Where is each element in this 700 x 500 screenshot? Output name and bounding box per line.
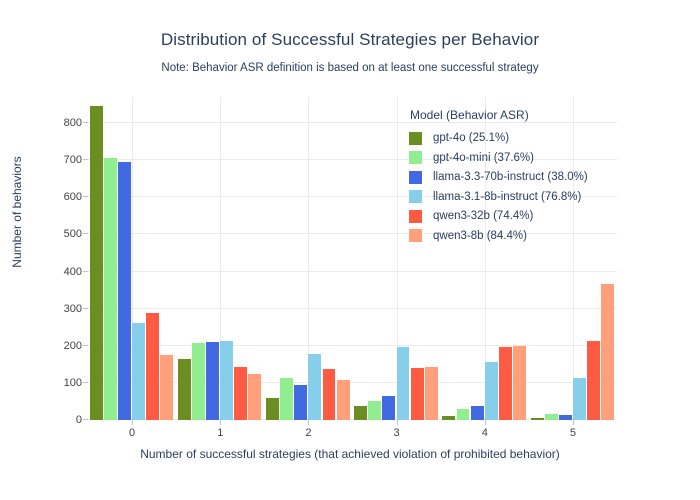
x-axis-tick-label: 3 — [367, 427, 427, 439]
legend-swatch-icon — [409, 210, 422, 223]
bar[interactable] — [442, 416, 455, 420]
y-axis-tick-mark — [83, 196, 88, 197]
y-axis-title: Number of behaviors — [10, 122, 24, 302]
bar[interactable] — [178, 359, 191, 420]
bar[interactable] — [425, 367, 438, 420]
y-axis-tick-mark — [83, 233, 88, 234]
x-axis-tick-mark — [308, 420, 309, 425]
bar[interactable] — [513, 346, 526, 420]
bar[interactable] — [220, 341, 233, 420]
legend-item[interactable]: gpt-4o-mini (37.6%) — [409, 149, 619, 167]
bar[interactable] — [323, 369, 336, 420]
y-axis-tick-mark — [83, 382, 88, 383]
legend-item-label: qwen3-32b (74.4%) — [433, 210, 533, 222]
bar[interactable] — [471, 406, 484, 420]
bar[interactable] — [354, 406, 367, 420]
legend-item-label: qwen3-8b (84.4%) — [433, 230, 527, 242]
bar[interactable] — [266, 398, 279, 420]
bar[interactable] — [90, 106, 103, 420]
bar[interactable] — [499, 347, 512, 420]
y-axis-tick-label: 600 — [42, 192, 82, 203]
legend-item-label: llama-3.1-8b-instruct (76.8%) — [433, 191, 581, 203]
gridline — [88, 345, 617, 346]
bar[interactable] — [104, 158, 117, 420]
bar[interactable] — [411, 368, 424, 420]
y-axis-tick-mark — [83, 271, 88, 272]
x-axis-tick-label: 1 — [190, 427, 250, 439]
y-axis-tick-mark — [83, 159, 88, 160]
x-axis-tick-label: 5 — [543, 427, 603, 439]
bar[interactable] — [382, 396, 395, 420]
bar[interactable] — [485, 362, 498, 420]
y-axis-tick-label: 800 — [42, 118, 82, 129]
x-axis-tick-mark — [132, 420, 133, 425]
bar[interactable] — [234, 367, 247, 420]
bar[interactable] — [559, 415, 572, 420]
x-axis-tick-label: 4 — [455, 427, 515, 439]
bar[interactable] — [206, 342, 219, 420]
x-axis-tick-label: 2 — [278, 427, 338, 439]
bar[interactable] — [248, 374, 261, 420]
legend-item-label: gpt-4o (25.1%) — [433, 132, 509, 144]
legend-swatch-icon — [409, 229, 422, 242]
y-axis-tick-mark — [83, 308, 88, 309]
legend-swatch-icon — [409, 132, 422, 145]
x-axis-tick-mark — [573, 420, 574, 425]
bar[interactable] — [573, 378, 586, 420]
y-axis-tick-label: 500 — [42, 229, 82, 240]
y-axis-tick-label: 200 — [42, 341, 82, 352]
x-axis-title: Number of successful strategies (that ac… — [0, 447, 700, 461]
y-axis-tick-mark — [83, 419, 88, 420]
bar[interactable] — [132, 323, 145, 420]
y-axis-tick-label: 100 — [42, 378, 82, 389]
legend-swatch-icon — [409, 190, 422, 203]
bar[interactable] — [337, 380, 350, 420]
y-axis-tick-labels: 0100200300400500600700800 — [38, 97, 82, 420]
bar[interactable] — [146, 313, 159, 420]
x-axis-tick-label: 0 — [102, 427, 162, 439]
bar[interactable] — [601, 284, 614, 420]
legend-item-label: llama-3.3-70b-instruct (38.0%) — [433, 171, 588, 183]
bar[interactable] — [280, 378, 293, 420]
y-axis-tick-label: 0 — [42, 415, 82, 426]
chart-title: Distribution of Successful Strategies pe… — [0, 30, 700, 50]
gridline — [88, 271, 617, 272]
legend-item-label: gpt-4o-mini (37.6%) — [433, 152, 534, 164]
legend-item[interactable]: qwen3-32b (74.4%) — [409, 207, 619, 225]
x-axis-tick-mark — [485, 420, 486, 425]
legend-item[interactable]: llama-3.1-8b-instruct (76.8%) — [409, 188, 619, 206]
y-axis-tick-mark — [83, 345, 88, 346]
y-axis-tick-label: 300 — [42, 304, 82, 315]
x-axis-tick-mark — [220, 420, 221, 425]
y-axis-tick-label: 700 — [42, 155, 82, 166]
bar[interactable] — [192, 343, 205, 420]
legend-swatch-icon — [409, 171, 422, 184]
y-axis-tick-marks — [83, 97, 89, 420]
chart-figure: Distribution of Successful Strategies pe… — [0, 0, 700, 500]
legend-item[interactable]: llama-3.3-70b-instruct (38.0%) — [409, 168, 619, 186]
legend: Model (Behavior ASR) gpt-4o (25.1%)gpt-4… — [409, 108, 619, 246]
bar[interactable] — [160, 355, 173, 420]
bar[interactable] — [308, 354, 321, 420]
legend-items: gpt-4o (25.1%)gpt-4o-mini (37.6%)llama-3… — [409, 129, 619, 245]
bar[interactable] — [368, 401, 381, 420]
y-axis-tick-label: 400 — [42, 267, 82, 278]
bar[interactable] — [397, 347, 410, 420]
bar[interactable] — [531, 418, 544, 420]
bar[interactable] — [118, 162, 131, 420]
bar[interactable] — [587, 341, 600, 420]
x-axis-tick-mark — [397, 420, 398, 425]
legend-swatch-icon — [409, 151, 422, 164]
legend-item[interactable]: qwen3-8b (84.4%) — [409, 227, 619, 245]
bar[interactable] — [457, 409, 470, 420]
gridline — [88, 308, 617, 309]
y-axis-tick-mark — [83, 122, 88, 123]
bar[interactable] — [294, 385, 307, 420]
bar[interactable] — [545, 414, 558, 420]
legend-item[interactable]: gpt-4o (25.1%) — [409, 129, 619, 147]
chart-subtitle: Note: Behavior ASR definition is based o… — [0, 62, 700, 74]
legend-title: Model (Behavior ASR) — [409, 108, 619, 122]
